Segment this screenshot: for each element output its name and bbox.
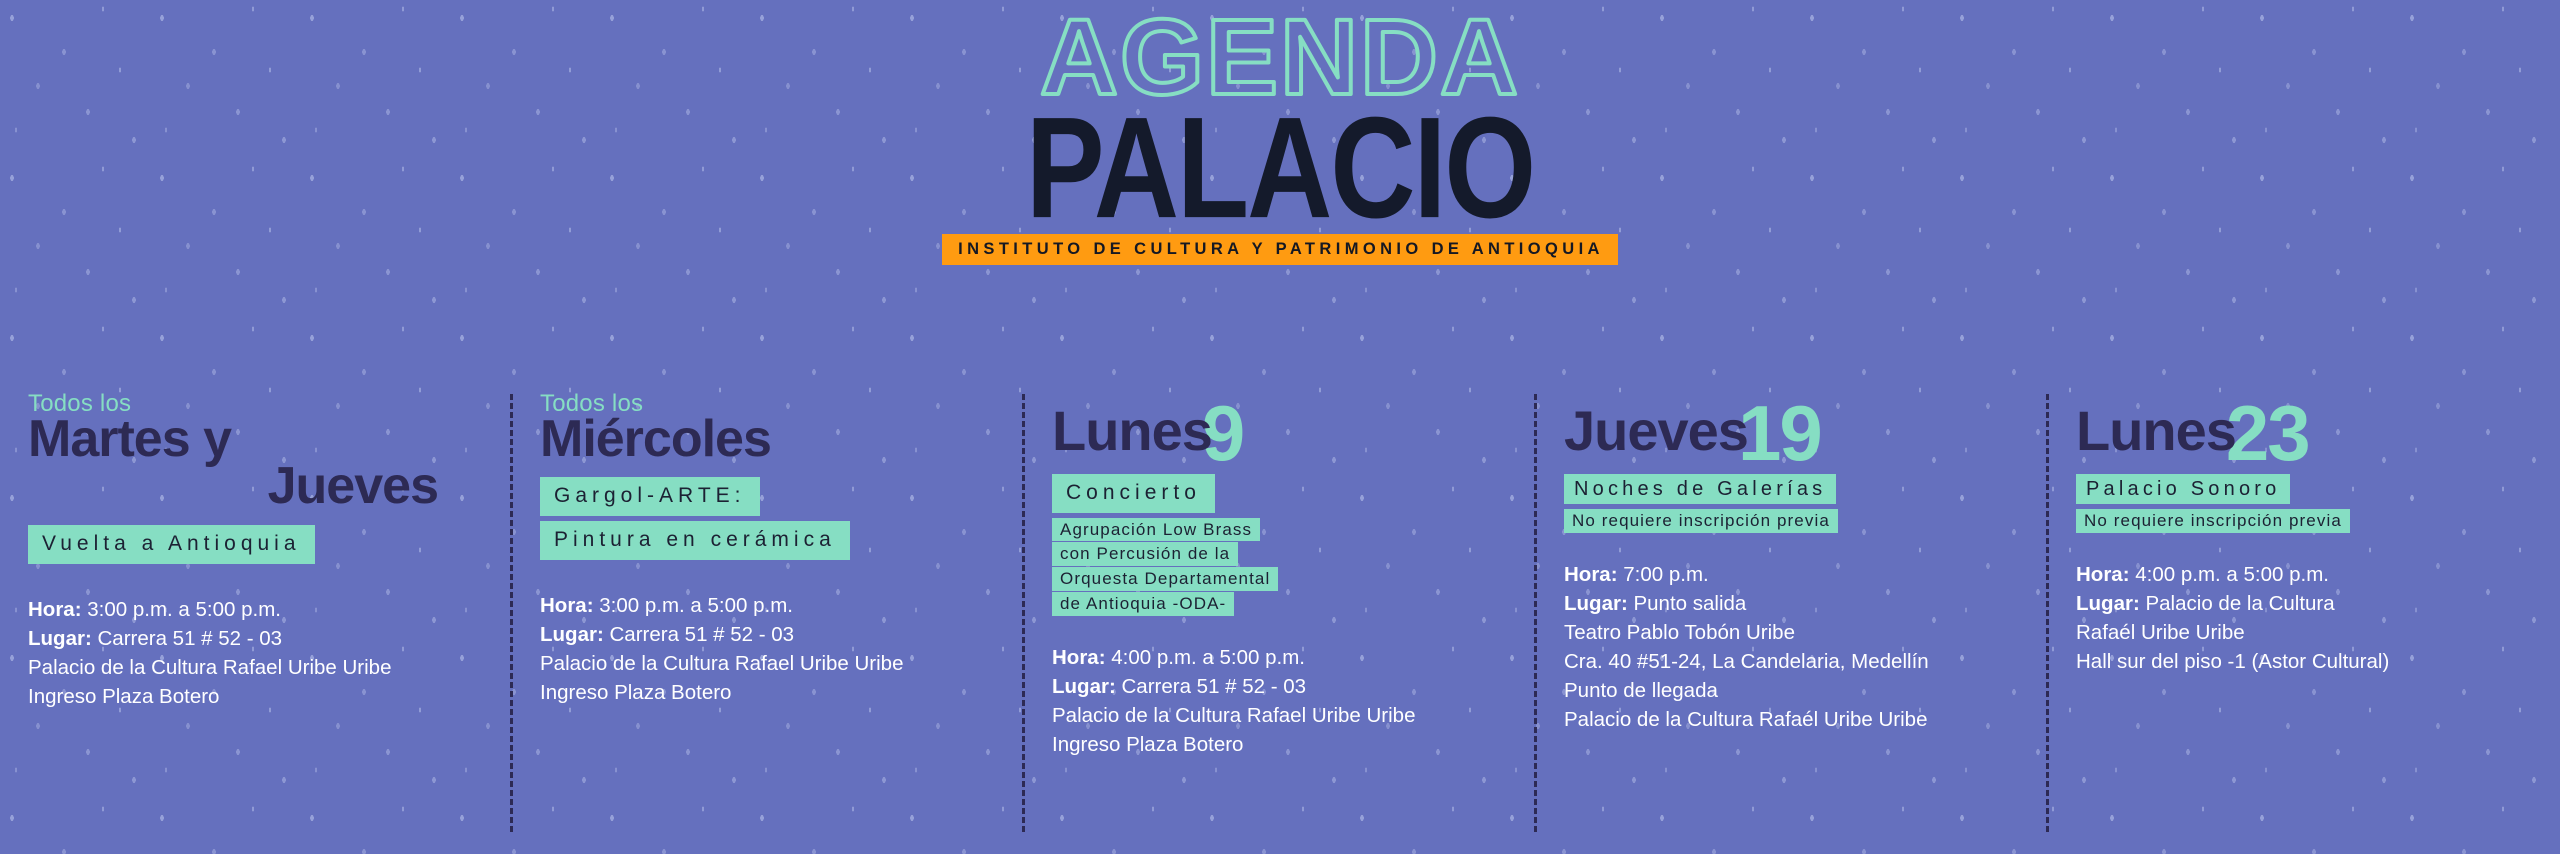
detail-extra-line: Palacio de la Cultura Rafaél Uribe Uribe: [1564, 705, 2022, 734]
lugar-label: Lugar:: [1564, 592, 1628, 615]
hora-value: 4:00 p.m. a 5:00 p.m.: [2135, 563, 2329, 586]
event-subtitle-tag: de Antioquia -ODA-: [1052, 592, 1234, 616]
event-column-2: Todos los Miércoles Gargol-ARTE: Pintura…: [512, 390, 1024, 854]
palacio-title: PALACIO: [1026, 100, 1534, 237]
event-subtitle-tag: con Percusión de la: [1052, 542, 1238, 566]
lugar-value: Punto salida: [1633, 592, 1746, 615]
hora-value: 3:00 p.m. a 5:00 p.m.: [87, 598, 281, 621]
detail-extra-line: Hall sur del piso -1 (Astor Cultural): [2076, 647, 2534, 676]
hora-label: Hora:: [1564, 563, 1618, 586]
day-line-1: Martes y: [28, 410, 231, 468]
hora-value: 4:00 p.m. a 5:00 p.m.: [1111, 646, 1305, 669]
event-title-tag: Vuelta a Antioquia: [28, 525, 315, 564]
event-column-3: Lunes9 Concierto Agrupación Low Brass co…: [1024, 390, 1536, 854]
day-number: 23: [2226, 398, 2309, 470]
detail-extra-line: Ingreso Plaza Botero: [1052, 730, 1510, 759]
detail-extra-line: Ingreso Plaza Botero: [28, 682, 486, 711]
detail-extra-line: Palacio de la Cultura Rafael Uribe Uribe: [1052, 701, 1510, 730]
column-tags: Concierto Agrupación Low Brass con Percu…: [1052, 474, 1510, 617]
event-subtitle-tag: Agrupación Low Brass: [1052, 518, 1260, 542]
detail-lugar: Lugar: Carrera 51 # 52 - 03: [1052, 672, 1510, 701]
hora-value: 7:00 p.m.: [1623, 563, 1708, 586]
column-details: Hora: 4:00 p.m. a 5:00 p.m. Lugar: Carre…: [1052, 643, 1510, 759]
day-line-1: Miércoles: [540, 410, 771, 468]
column-tags: Palacio Sonoro No requiere inscripción p…: [2076, 474, 2534, 534]
hora-label: Hora:: [540, 594, 594, 617]
event-title-tag: Pintura en cerámica: [540, 521, 850, 560]
column-day-title: Martes y Jueves: [28, 416, 486, 512]
event-column-5: Lunes23 Palacio Sonoro No requiere inscr…: [2048, 390, 2560, 854]
events-columns: Todos los Martes y Jueves Vuelta a Antio…: [0, 390, 2560, 854]
lugar-value: Carrera 51 # 52 - 03: [97, 627, 282, 650]
column-details: Hora: 3:00 p.m. a 5:00 p.m. Lugar: Carre…: [540, 591, 998, 707]
lugar-value: Carrera 51 # 52 - 03: [609, 623, 794, 646]
column-tags: Vuelta a Antioquia: [28, 525, 486, 569]
day-line-1: Lunes: [1052, 399, 1212, 462]
lugar-label: Lugar:: [540, 623, 604, 646]
detail-hora: Hora: 4:00 p.m. a 5:00 p.m.: [1052, 643, 1510, 672]
detail-extra-line: Ingreso Plaza Botero: [540, 678, 998, 707]
detail-hora: Hora: 7:00 p.m.: [1564, 560, 2022, 589]
event-title-tag: Concierto: [1052, 474, 1215, 513]
detail-extra-line: Palacio de la Cultura Rafael Uribe Uribe: [28, 653, 486, 682]
lugar-label: Lugar:: [1052, 675, 1116, 698]
detail-extra-line: Punto de llegada: [1564, 676, 2022, 705]
hora-value: 3:00 p.m. a 5:00 p.m.: [599, 594, 793, 617]
detail-extra-line: Rafaél Uribe Uribe: [2076, 618, 2534, 647]
lugar-value: Carrera 51 # 52 - 03: [1121, 675, 1306, 698]
day-line-2: Jueves: [28, 463, 486, 511]
lugar-label: Lugar:: [2076, 592, 2140, 615]
day-line-1: Jueves: [1564, 399, 1748, 462]
column-day-title: Jueves19: [1564, 388, 1821, 460]
event-subtitle-tag: No requiere inscripción previa: [1564, 509, 1838, 533]
event-title-tag: Palacio Sonoro: [2076, 474, 2290, 504]
detail-hora: Hora: 3:00 p.m. a 5:00 p.m.: [540, 591, 998, 620]
detail-hora: Hora: 4:00 p.m. a 5:00 p.m.: [2076, 560, 2534, 589]
column-day-title: Miércoles: [540, 416, 998, 464]
day-line-1: Lunes: [2076, 399, 2236, 462]
column-day-title: Lunes23: [2076, 388, 2309, 460]
poster-header: AGENDA PALACIO INSTITUTO DE CULTURA Y PA…: [0, 0, 2560, 355]
column-details: Hora: 3:00 p.m. a 5:00 p.m. Lugar: Carre…: [28, 595, 486, 711]
detail-extra-line: Teatro Pablo Tobón Uribe: [1564, 618, 2022, 647]
day-number: 19: [1738, 398, 1821, 470]
detail-hora: Hora: 3:00 p.m. a 5:00 p.m.: [28, 595, 486, 624]
event-subtitle-tag: No requiere inscripción previa: [2076, 509, 2350, 533]
column-tags: Noches de Galerías No requiere inscripci…: [1564, 474, 2022, 534]
hora-label: Hora:: [2076, 563, 2130, 586]
event-title-tag: Gargol-ARTE:: [540, 477, 760, 516]
detail-extra-line: Cra. 40 #51-24, La Candelaria, Medellín: [1564, 647, 2022, 676]
detail-lugar: Lugar: Punto salida: [1564, 589, 2022, 618]
agenda-poster: AGENDA PALACIO INSTITUTO DE CULTURA Y PA…: [0, 0, 2560, 854]
column-tags: Gargol-ARTE: Pintura en cerámica: [540, 477, 998, 565]
lugar-value: Palacio de la Cultura: [2145, 592, 2334, 615]
column-details: Hora: 7:00 p.m. Lugar: Punto salida Teat…: [1564, 560, 2022, 735]
column-day-title: Lunes9: [1052, 388, 1243, 460]
detail-lugar: Lugar: Carrera 51 # 52 - 03: [540, 620, 998, 649]
event-column-4: Jueves19 Noches de Galerías No requiere …: [1536, 390, 2048, 854]
detail-lugar: Lugar: Carrera 51 # 52 - 03: [28, 624, 486, 653]
hora-label: Hora:: [28, 598, 82, 621]
detail-lugar: Lugar: Palacio de la Cultura: [2076, 589, 2534, 618]
column-details: Hora: 4:00 p.m. a 5:00 p.m. Lugar: Palac…: [2076, 560, 2534, 676]
event-subtitle-tag: Orquesta Departamental: [1052, 567, 1278, 591]
event-column-1: Todos los Martes y Jueves Vuelta a Antio…: [0, 390, 512, 854]
detail-extra-line: Palacio de la Cultura Rafael Uribe Uribe: [540, 649, 998, 678]
event-title-tag: Noches de Galerías: [1564, 474, 1836, 504]
lugar-label: Lugar:: [28, 627, 92, 650]
hora-label: Hora:: [1052, 646, 1106, 669]
